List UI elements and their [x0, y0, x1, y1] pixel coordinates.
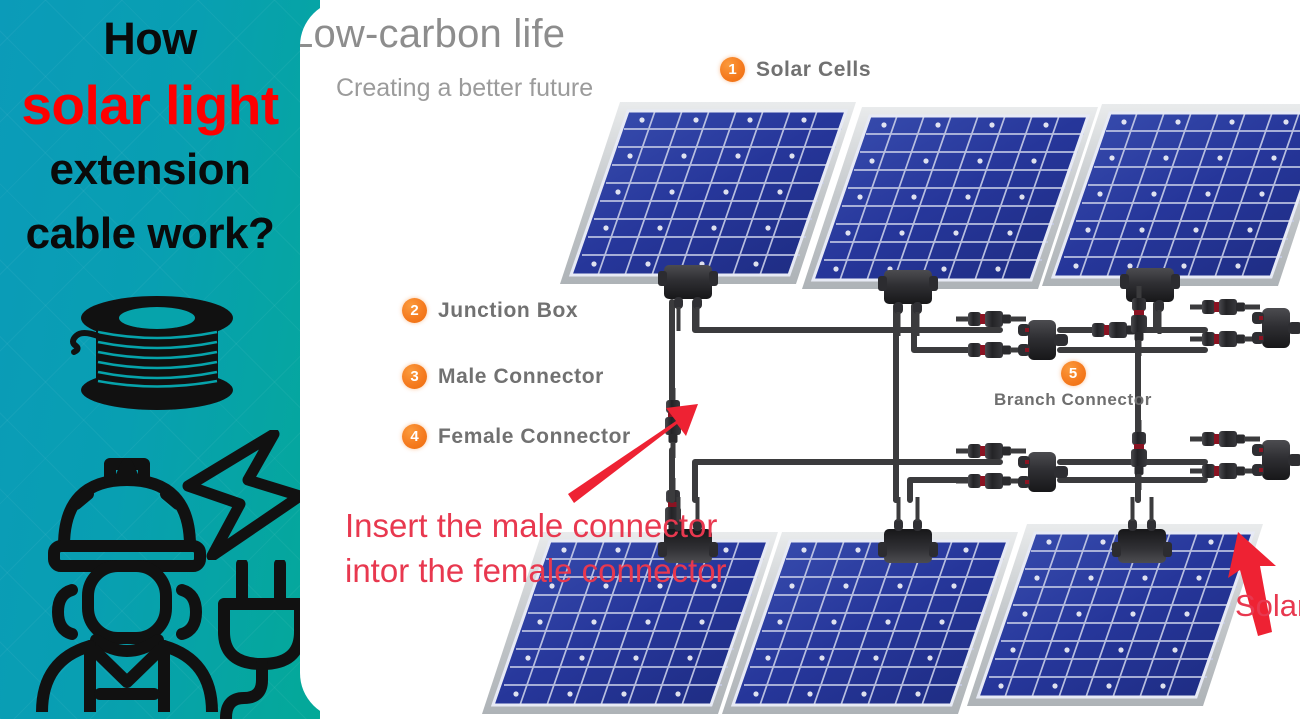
branch-connector-top-right — [1252, 308, 1300, 348]
mc4-connector-pair-3 — [956, 311, 1026, 327]
solar-wiring-diagram — [300, 0, 1300, 719]
junction-box-top-2 — [878, 270, 938, 336]
legend-badge-2: 2 — [402, 298, 427, 323]
cable-spool-icon — [62, 292, 242, 414]
headline-line-1: How — [0, 16, 300, 61]
diagram-card: Low-carbon life Creating a better future… — [300, 0, 1300, 719]
electrician-worker-icon — [32, 450, 222, 712]
mc4-connector-pair-13 — [1190, 463, 1260, 479]
screenshot-root: How solar light extension cable work? — [0, 0, 1300, 719]
junction-box-top-3 — [1120, 268, 1180, 334]
solar-panel-top-1 — [560, 102, 856, 284]
mc4-connector-pair-12 — [1190, 431, 1260, 447]
legend-badge-4: 4 — [402, 424, 427, 449]
mc4-connector-pair-4 — [956, 342, 1026, 358]
legend-badge-3: 3 — [402, 364, 427, 389]
mc4-connector-pair-9 — [956, 443, 1026, 459]
insert-instruction-line-2: intor the female connector — [345, 548, 727, 593]
insert-instruction-annotation: Insert the male connector intor the fema… — [345, 503, 727, 593]
mc4-connector-pair-7 — [1190, 299, 1260, 315]
headline-line-2-highlight: solar light — [0, 78, 300, 133]
page-subtitle: Creating a better future — [336, 74, 593, 103]
mc4-connector-pair-10 — [956, 473, 1026, 489]
legend-label-1: Solar Cells — [756, 58, 871, 82]
headline-line-4: cable work? — [0, 212, 300, 256]
legend-badge-5: 5 — [1061, 361, 1086, 386]
power-plug-icon — [214, 560, 314, 719]
legend-item-male-connector: 3 Male Connector — [402, 364, 604, 389]
insert-instruction-line-1: Insert the male connector — [345, 503, 727, 548]
legend-badge-1: 1 — [720, 57, 745, 82]
branch-connector-top — [1018, 320, 1068, 360]
legend-label-2: Junction Box — [438, 299, 578, 323]
junction-box-bottom-3 — [1112, 497, 1172, 563]
headline-line-3: extension — [0, 148, 300, 192]
mc4-connector-pair-8 — [1190, 331, 1260, 347]
branch-connector-bottom — [1018, 452, 1068, 492]
branch-connector-bottom-right — [1252, 440, 1300, 480]
junction-box-top-1 — [658, 265, 718, 331]
legend-item-female-connector: 4 Female Connector — [402, 424, 631, 449]
left-title-panel: How solar light extension cable work? — [0, 0, 320, 719]
junction-box-bottom-2 — [878, 497, 938, 563]
legend-label-4: Female Connector — [438, 425, 631, 449]
page-title: Low-carbon life — [300, 12, 565, 57]
legend-label-3: Male Connector — [438, 365, 604, 389]
legend-item-junction-box: 2 Junction Box — [402, 298, 578, 323]
legend-item-solar-cells: 1 Solar Cells — [720, 57, 871, 82]
red-arrow-insert — [568, 404, 698, 503]
legend-label-5: Branch Connector — [988, 390, 1158, 410]
solar-annotation-label: Solar — [1235, 588, 1300, 624]
legend-item-branch-connector: 5 Branch Connector — [988, 361, 1158, 410]
